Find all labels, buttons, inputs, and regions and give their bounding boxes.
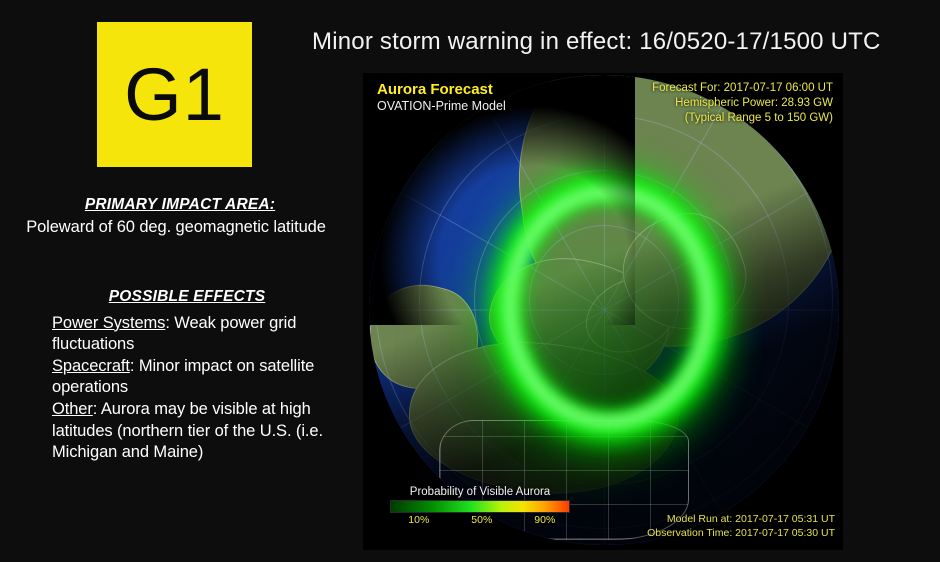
storm-level-label: G1 bbox=[124, 58, 225, 132]
legend-colorbar bbox=[390, 500, 570, 513]
run-info-block: Model Run at: 2017-07-17 05:31 UT Observ… bbox=[647, 512, 835, 540]
globe-visualization bbox=[369, 75, 839, 545]
effect-label-power-systems: Power Systems bbox=[52, 314, 165, 332]
legend-tick: 90% bbox=[534, 514, 555, 526]
legend-tick-labels: 10% 50% 90% bbox=[390, 514, 570, 528]
list-item: Other: Aurora may be visible at high lat… bbox=[52, 399, 352, 464]
impact-info-panel: PRIMARY IMPACT AREA: Poleward of 60 deg.… bbox=[0, 196, 352, 464]
effect-text-other: : Aurora may be visible at high latitude… bbox=[52, 400, 323, 461]
storm-level-badge: G1 bbox=[97, 22, 252, 167]
legend-title: Probability of Visible Aurora bbox=[390, 486, 570, 498]
aurora-forecast-map: Aurora Forecast OVATION-Prime Model Fore… bbox=[363, 73, 843, 550]
primary-impact-heading: PRIMARY IMPACT AREA: bbox=[0, 196, 352, 214]
forecast-info-block: Forecast For: 2017-07-17 06:00 UT Hemisp… bbox=[652, 81, 833, 127]
hemispheric-power-text: Hemispheric Power: 28.93 GW bbox=[652, 96, 833, 111]
typical-range-text: (Typical Range 5 to 150 GW) bbox=[652, 111, 833, 126]
page-title: Minor storm warning in effect: 16/0520-1… bbox=[312, 28, 881, 56]
primary-impact-text: Poleward of 60 deg. geomagnetic latitude bbox=[0, 217, 352, 239]
legend-tick: 10% bbox=[408, 514, 429, 526]
possible-effects-heading: POSSIBLE EFFECTS bbox=[0, 288, 352, 306]
effect-label-spacecraft: Spacecraft bbox=[52, 357, 130, 375]
map-title: Aurora Forecast bbox=[377, 81, 493, 98]
observation-time-text: Observation Time: 2017-07-17 05:30 UT bbox=[647, 526, 835, 540]
forecast-for-text: Forecast For: 2017-07-17 06:00 UT bbox=[652, 81, 833, 96]
probability-legend: Probability of Visible Aurora 10% 50% 90… bbox=[390, 486, 570, 528]
model-run-text: Model Run at: 2017-07-17 05:31 UT bbox=[647, 512, 835, 526]
effect-label-other: Other bbox=[52, 400, 93, 418]
map-subtitle: OVATION-Prime Model bbox=[377, 99, 506, 113]
possible-effects-list: Power Systems: Weak power grid fluctuati… bbox=[0, 313, 352, 464]
list-item: Spacecraft: Minor impact on satellite op… bbox=[52, 356, 352, 399]
list-item: Power Systems: Weak power grid fluctuati… bbox=[52, 313, 352, 356]
legend-tick: 50% bbox=[471, 514, 492, 526]
